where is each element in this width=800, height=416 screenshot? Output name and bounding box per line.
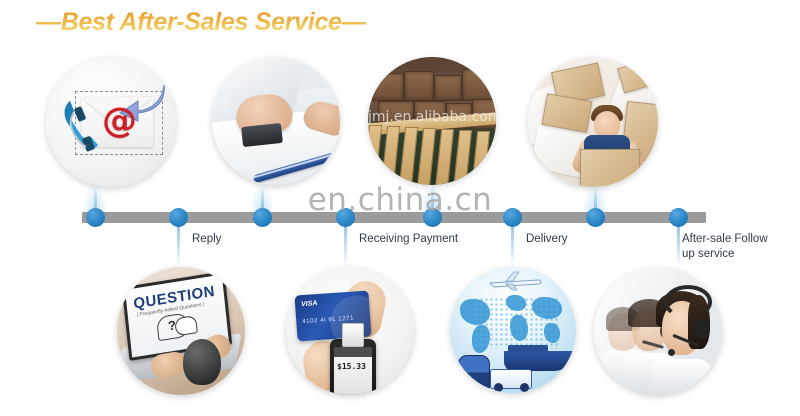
timeline-label-after-sale-follow-up: After-sale Follow up service — [682, 232, 792, 262]
card-reader-icon — [342, 323, 364, 347]
timeline-stem-down-2 — [177, 223, 180, 267]
truck-wheel — [520, 383, 529, 392]
timeline-stem-down-6 — [511, 223, 514, 267]
train-icon — [458, 355, 490, 389]
agent-body — [650, 359, 712, 395]
page-title: —Best After-Sales Service— — [36, 8, 366, 37]
payment-amount: $15.33 — [337, 362, 366, 371]
packing-illustration — [528, 57, 658, 187]
smartphone-icon: $15.33 — [330, 339, 376, 395]
plank — [489, 132, 496, 185]
airplane-icon — [488, 271, 544, 291]
warehouse-crates-illustration: jmj.en.alibaba.com — [368, 57, 496, 185]
contract-stamp-illustration — [212, 57, 340, 185]
at-symbol-icon: @ — [102, 101, 137, 141]
crate — [372, 73, 404, 101]
pallet-planks — [368, 117, 496, 185]
speech-bubble-icon-2 — [174, 315, 198, 336]
timeline-stem-down-4 — [344, 223, 347, 267]
after-sales-service-banner: —Best After-Sales Service— @ — [0, 0, 800, 416]
computer-mouse-icon — [183, 339, 221, 385]
timeline-dot-8[interactable] — [669, 208, 688, 227]
photo-faq-laptop: QUESTION ( Frequently Asked Questions ) … — [117, 267, 245, 395]
timeline-dot-2[interactable] — [169, 208, 188, 227]
plank — [435, 129, 454, 185]
plank — [453, 130, 472, 185]
photo-card-payment: VISA 4102 4l 9L 1271 $15.33 — [286, 267, 414, 395]
truck-wheel — [494, 383, 503, 392]
timeline-dot-5[interactable] — [423, 208, 442, 227]
timeline-stem-down-8 — [677, 223, 680, 267]
crate — [462, 69, 496, 101]
photo-global-logistics — [450, 267, 576, 393]
headset-earpiece — [694, 319, 710, 339]
plank — [381, 126, 400, 185]
photo-wooden-crates: jmj.en.alibaba.com — [368, 57, 496, 185]
timeline-label-receiving-payment: Receiving Payment — [359, 232, 458, 247]
photo-contact-inquiry: @ — [46, 57, 176, 187]
phone-screen: $15.33 — [334, 347, 372, 395]
timeline-dot-3[interactable] — [253, 208, 272, 227]
ship-deck — [508, 345, 548, 353]
plank — [417, 128, 436, 185]
plank — [471, 131, 490, 185]
headset-band — [664, 285, 712, 319]
timeline-dot-1[interactable] — [86, 208, 105, 227]
dotted-world-map — [474, 297, 558, 349]
timeline-label-reply: Reply — [192, 232, 221, 247]
photo-packing-boxes — [528, 57, 658, 187]
rubber-stamp-icon — [241, 123, 283, 147]
question-mark-icon: ? — [167, 317, 176, 333]
timeline-dot-7[interactable] — [586, 208, 605, 227]
card-brand-label: VISA — [301, 300, 318, 308]
photo-contract-stamp — [212, 57, 340, 185]
payment-illustration: VISA 4102 4l 9L 1271 $15.33 — [286, 267, 414, 395]
cargo-ship-icon — [504, 351, 574, 371]
call-center-illustration — [594, 267, 722, 395]
headset-mic-tip — [668, 349, 675, 356]
telephone-handset-icon — [60, 97, 100, 159]
timeline-dot-6[interactable] — [503, 208, 522, 227]
timeline-label-delivery: Delivery — [526, 232, 568, 247]
crate — [434, 75, 462, 101]
plank — [368, 125, 382, 185]
contact-illustration: @ — [46, 57, 176, 187]
photo-watermark: jmj.en.alibaba.com — [368, 109, 496, 125]
logistics-illustration — [450, 267, 576, 393]
crate — [404, 71, 434, 101]
plank — [399, 127, 418, 185]
photo-call-center — [594, 267, 722, 395]
faq-illustration: QUESTION ( Frequently Asked Questions ) … — [117, 267, 245, 395]
timeline-dot-4[interactable] — [336, 208, 355, 227]
